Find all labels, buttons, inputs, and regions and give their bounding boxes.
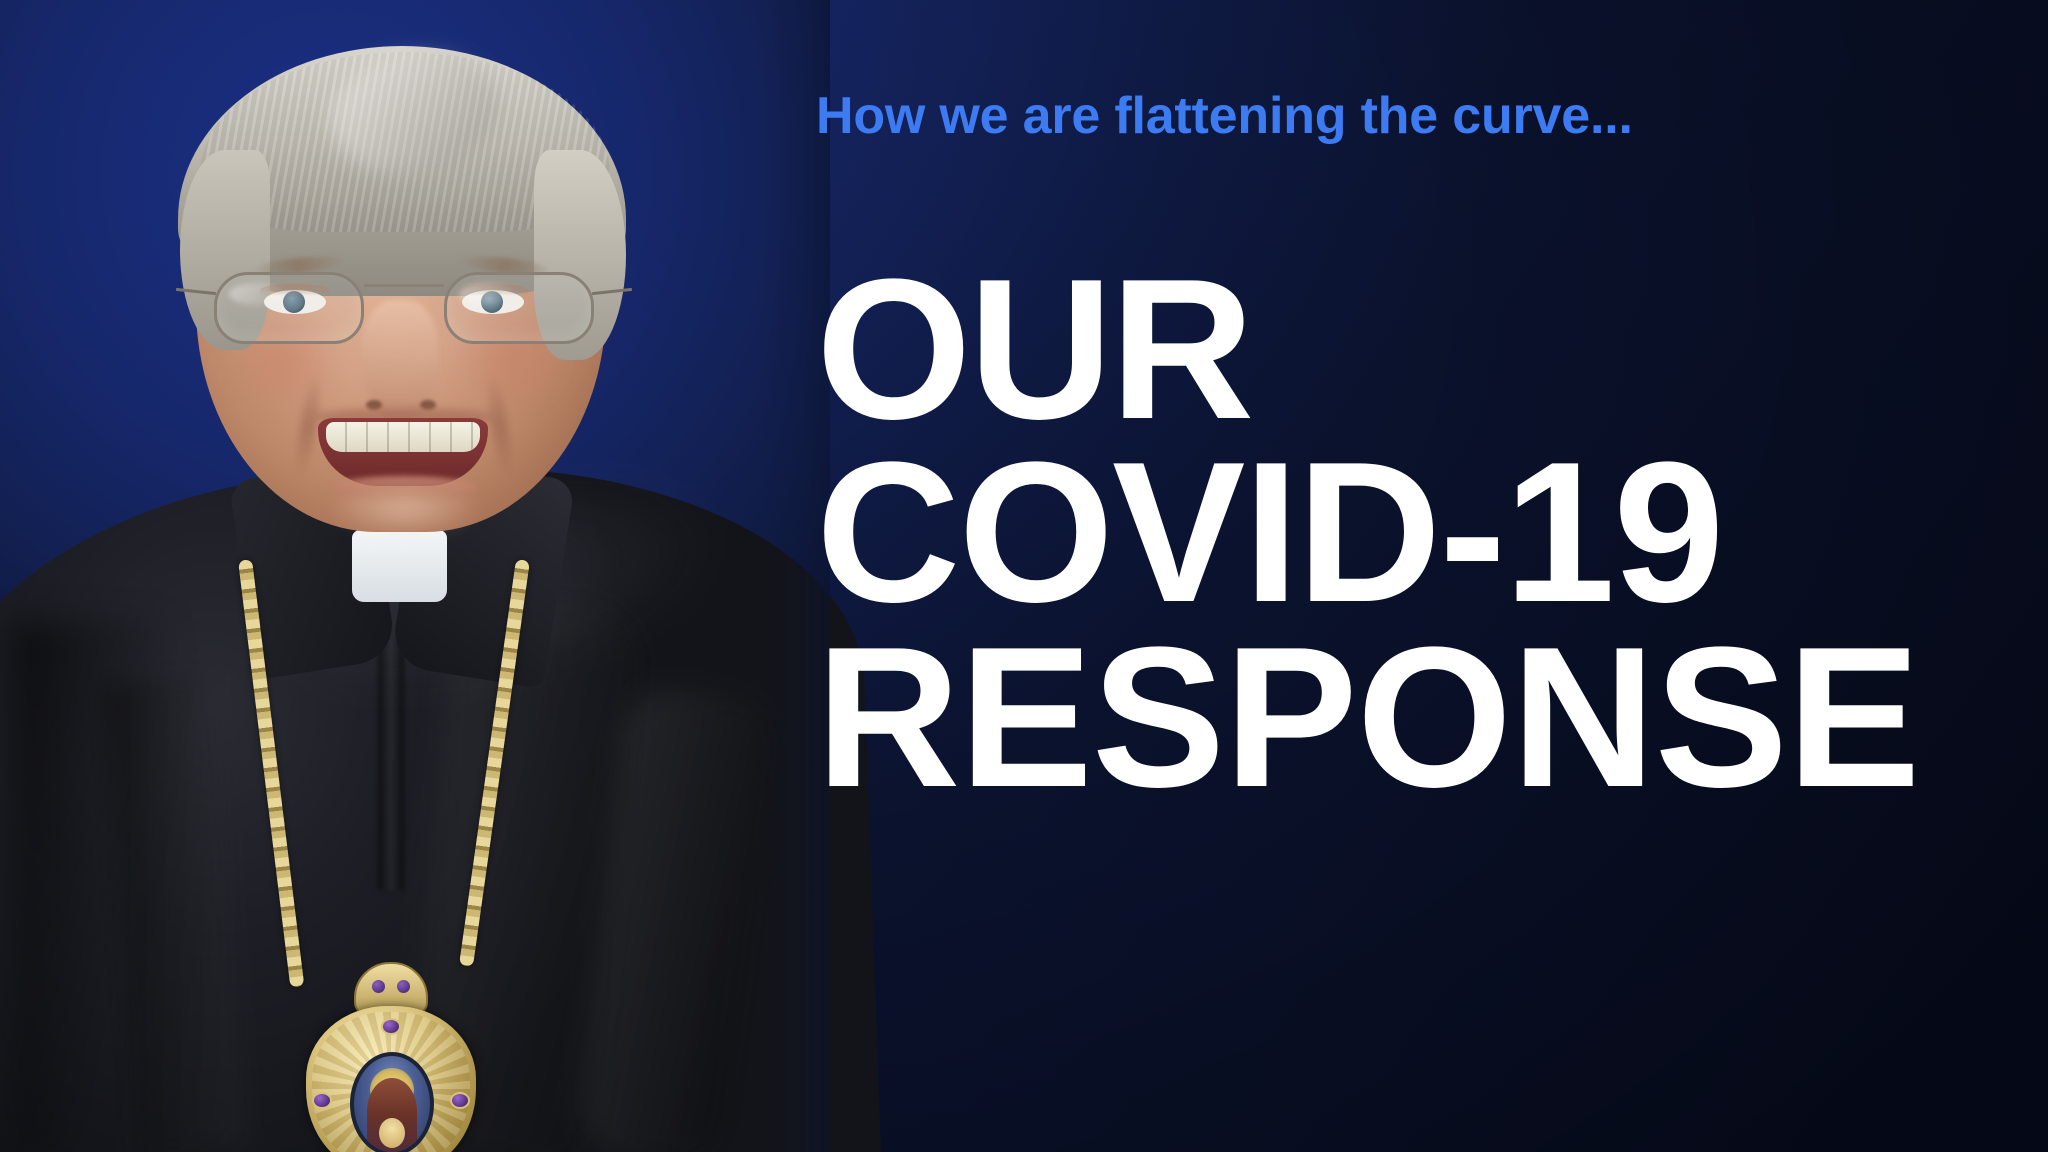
teeth-separations [326,422,480,452]
pendant-frame [306,1006,476,1152]
clerical-collar-icon [352,530,447,602]
chin-highlight [330,488,480,538]
pendant-gem-top [381,1018,401,1035]
cassock-placket [378,640,404,890]
lens-right [444,272,594,344]
pendant-gem-left [312,1092,332,1109]
crown-gem-right [397,980,410,993]
headline-line-2: COVID-19 [816,437,2048,629]
panagia-pendant-icon [296,962,486,1152]
lens-glare-right [459,283,515,305]
crown-gem-left [372,980,385,993]
lens-left [214,272,364,344]
text-block: How we are flattening the curve... OUR C… [816,0,2048,1152]
theotokos-icon [350,1052,434,1152]
glasses-bridge [364,284,444,287]
headline-line-1: OUR [816,254,2048,446]
lens-glare-left [229,283,285,305]
headline-line-3: RESPONSE [816,622,2048,814]
icon-christ-child [379,1118,405,1148]
subtitle: How we are flattening the curve... [816,86,1756,146]
subject-photo [0,0,830,1152]
pendant-gem-right [450,1092,470,1109]
title-card: How we are flattening the curve... OUR C… [0,0,2048,1152]
